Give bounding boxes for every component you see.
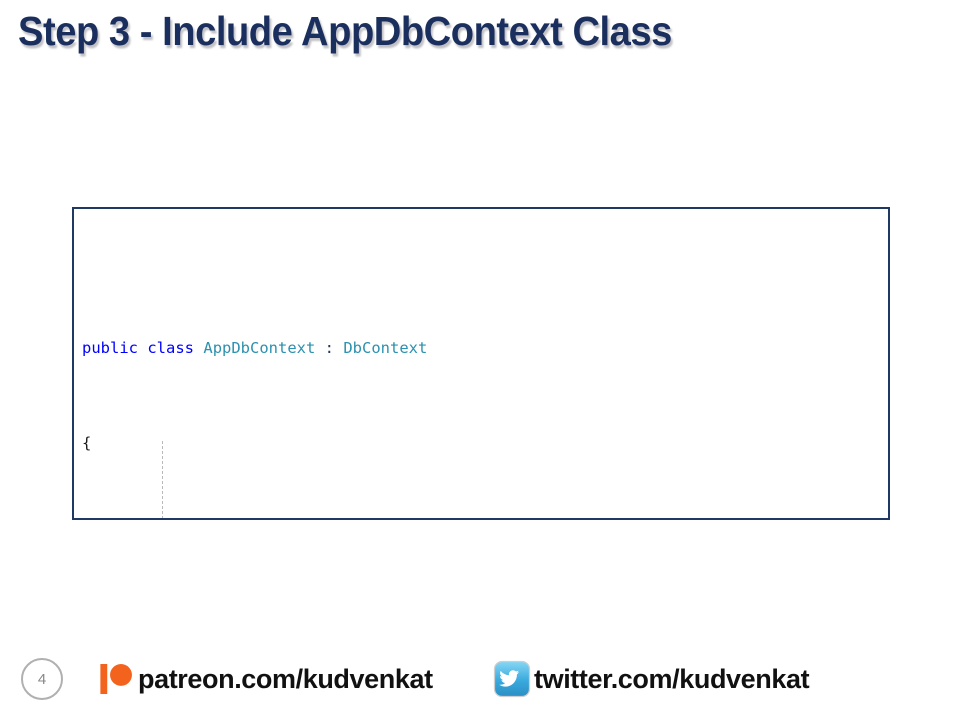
- code-content: public class AppDbContext : DbContext { …: [74, 209, 888, 520]
- code-block: public class AppDbContext : DbContext { …: [72, 207, 890, 520]
- token-type-dbcontext: DbContext: [343, 339, 427, 357]
- patreon-link[interactable]: patreon.com/kudvenkat: [96, 657, 433, 701]
- patreon-icon: [96, 659, 136, 699]
- token-keyword-class: class: [147, 339, 194, 357]
- token-keyword-public: public: [82, 339, 138, 357]
- patreon-label: patreon.com/kudvenkat: [138, 664, 433, 695]
- token-colon: :: [315, 339, 343, 357]
- token-brace-open-class: {: [82, 434, 91, 452]
- page-number-label: 4: [38, 671, 46, 688]
- page-number-badge: 4: [21, 658, 63, 700]
- twitter-link[interactable]: twitter.com/kudvenkat: [492, 657, 809, 701]
- code-line-2: {: [82, 432, 888, 456]
- twitter-icon: [492, 659, 532, 699]
- twitter-label: twitter.com/kudvenkat: [534, 664, 809, 695]
- token-type-appdbcontext: AppDbContext: [203, 339, 315, 357]
- page-title: Step 3 - Include AppDbContext Class: [18, 8, 672, 55]
- code-line-1: public class AppDbContext : DbContext: [82, 337, 888, 361]
